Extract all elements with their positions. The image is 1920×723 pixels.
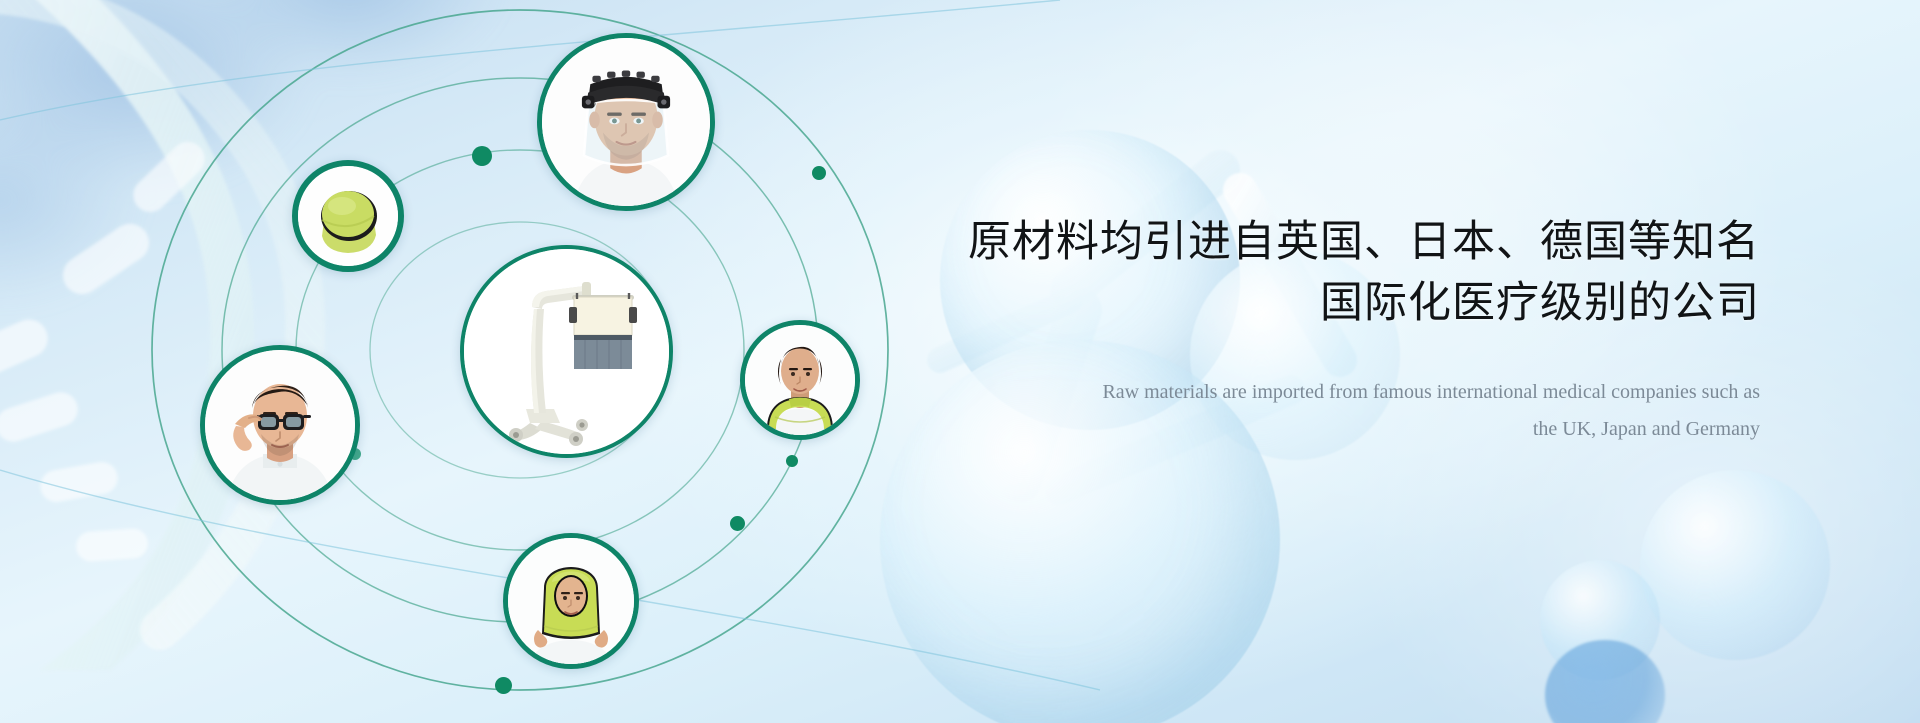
accent-dot (730, 516, 745, 531)
mobile-x-ray-shield-photo[interactable] (460, 245, 673, 458)
accent-dot (495, 677, 512, 694)
banner-copy: 原材料均引进自英国、日本、德国等知名 国际化医疗级别的公司 Raw materi… (940, 212, 1760, 448)
subtitle: Raw materials are imported from famous i… (940, 374, 1760, 448)
page-title: 原材料均引进自英国、日本、德国等知名 国际化医疗级别的公司 (940, 212, 1760, 334)
headline-line-2: 国际化医疗级别的公司 (940, 273, 1760, 334)
lead-glasses-photo[interactable] (200, 345, 360, 505)
subtitle-line-1: Raw materials are imported from famous i… (940, 374, 1760, 411)
lead-cap-photo[interactable] (292, 160, 404, 272)
accent-dot (812, 166, 826, 180)
subtitle-line-2: the UK, Japan and Germany (940, 411, 1760, 448)
thyroid-collar-photo[interactable] (740, 320, 860, 440)
accent-dot (472, 146, 492, 166)
face-shield-visor-photo[interactable] (537, 33, 715, 211)
lead-hood-photo[interactable] (503, 533, 639, 669)
hero-banner: 原材料均引进自英国、日本、德国等知名 国际化医疗级别的公司 Raw materi… (0, 0, 1920, 723)
headline-line-1: 原材料均引进自英国、日本、德国等知名 (940, 212, 1760, 273)
accent-dot (786, 455, 798, 467)
